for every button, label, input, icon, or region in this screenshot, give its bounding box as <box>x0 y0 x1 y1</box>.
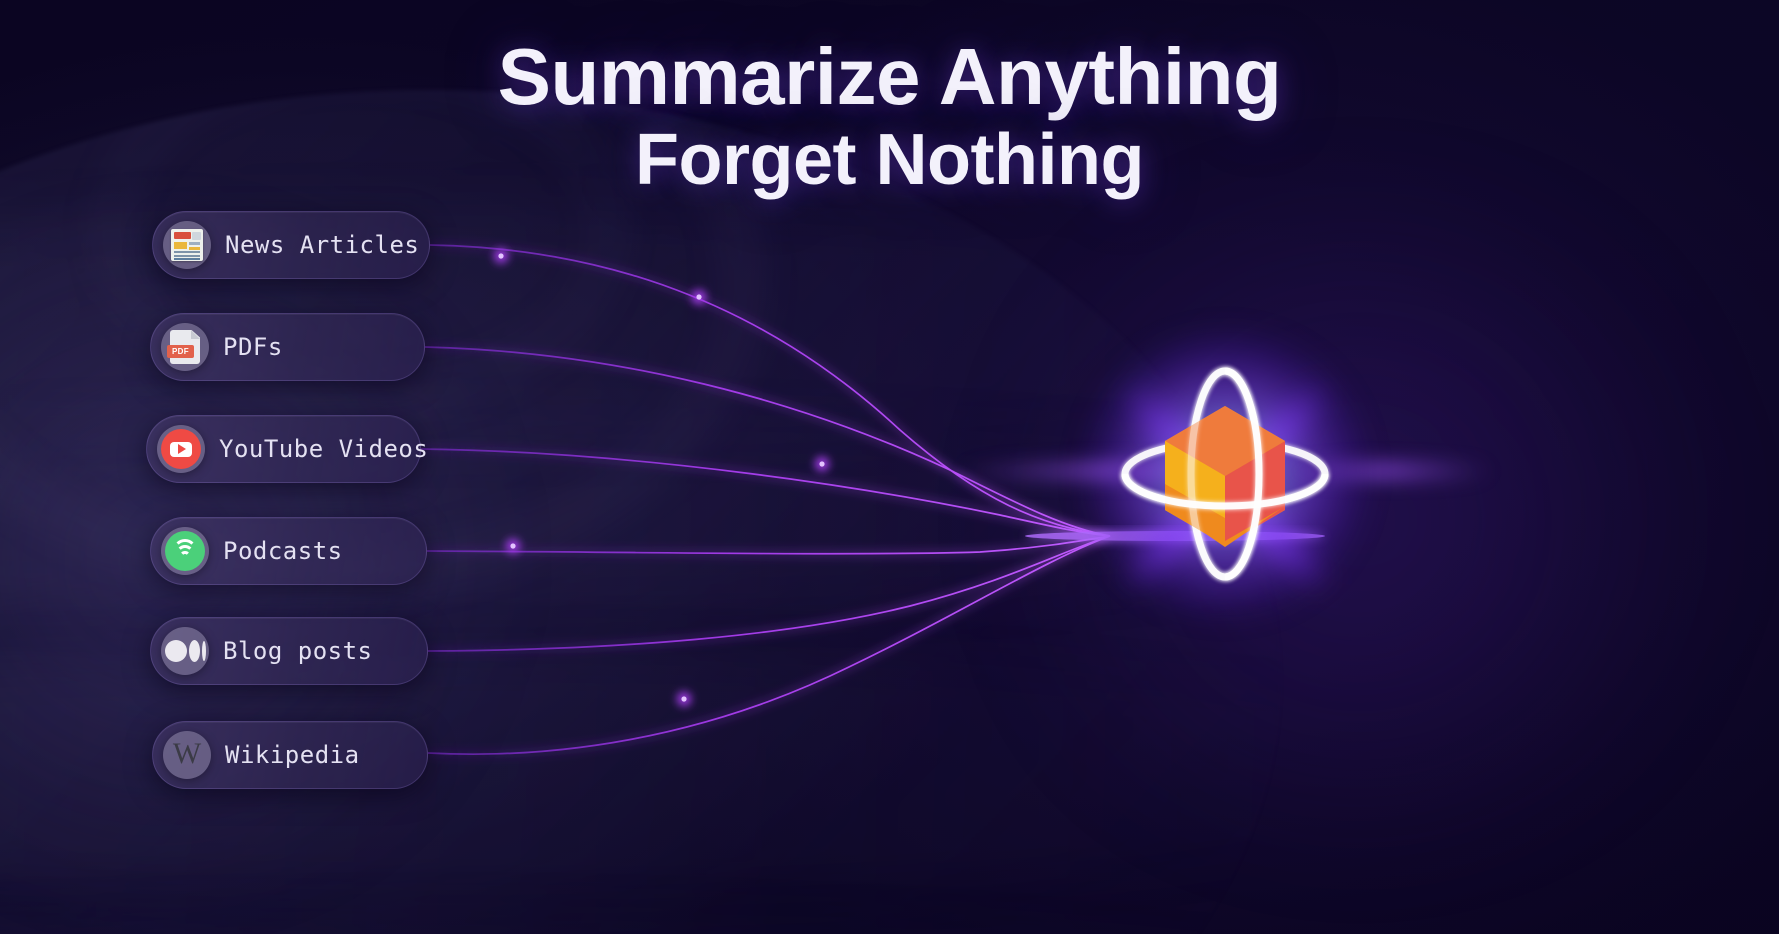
connection-node <box>498 253 503 258</box>
connection-line <box>430 245 1110 536</box>
source-pill-podcasts[interactable]: Podcasts <box>150 517 427 585</box>
headline-line-1: Summarize Anything <box>0 36 1779 118</box>
headline-line-2: Forget Nothing <box>0 124 1779 197</box>
source-pill-blog-posts[interactable]: Blog posts <box>150 617 428 685</box>
ai-cube-orbit-graphic <box>1045 294 1405 654</box>
connection-node <box>681 696 686 701</box>
source-pill-news-articles[interactable]: News Articles <box>152 211 430 279</box>
source-pill-label: News Articles <box>225 231 419 259</box>
cube-icon <box>1165 406 1285 547</box>
pdf-file-icon: PDF <box>161 323 209 371</box>
connection-line <box>427 536 1110 554</box>
source-pill-label: Blog posts <box>223 637 373 665</box>
youtube-icon <box>157 425 205 473</box>
wikipedia-icon: W <box>163 731 211 779</box>
medium-icon <box>161 627 209 675</box>
newspaper-icon <box>163 221 211 269</box>
hero-headline: Summarize Anything Forget Nothing <box>0 36 1779 197</box>
connection-node <box>510 543 515 548</box>
connection-line <box>425 347 1110 536</box>
source-pill-label: YouTube Videos <box>219 435 428 463</box>
spotify-icon <box>161 527 209 575</box>
connection-node <box>819 461 824 466</box>
connection-line <box>428 536 1110 754</box>
source-pill-pdfs[interactable]: PDFPDFs <box>150 313 425 381</box>
source-pill-label: Podcasts <box>223 537 343 565</box>
connection-node <box>696 294 701 299</box>
source-pill-youtube-videos[interactable]: YouTube Videos <box>146 415 421 483</box>
hero-canvas: Summarize Anything Forget Nothing News A… <box>0 0 1779 934</box>
source-pill-label: Wikipedia <box>225 741 360 769</box>
source-pill-label: PDFs <box>223 333 283 361</box>
connection-line <box>421 449 1110 536</box>
source-pill-wikipedia[interactable]: WWikipedia <box>152 721 428 789</box>
